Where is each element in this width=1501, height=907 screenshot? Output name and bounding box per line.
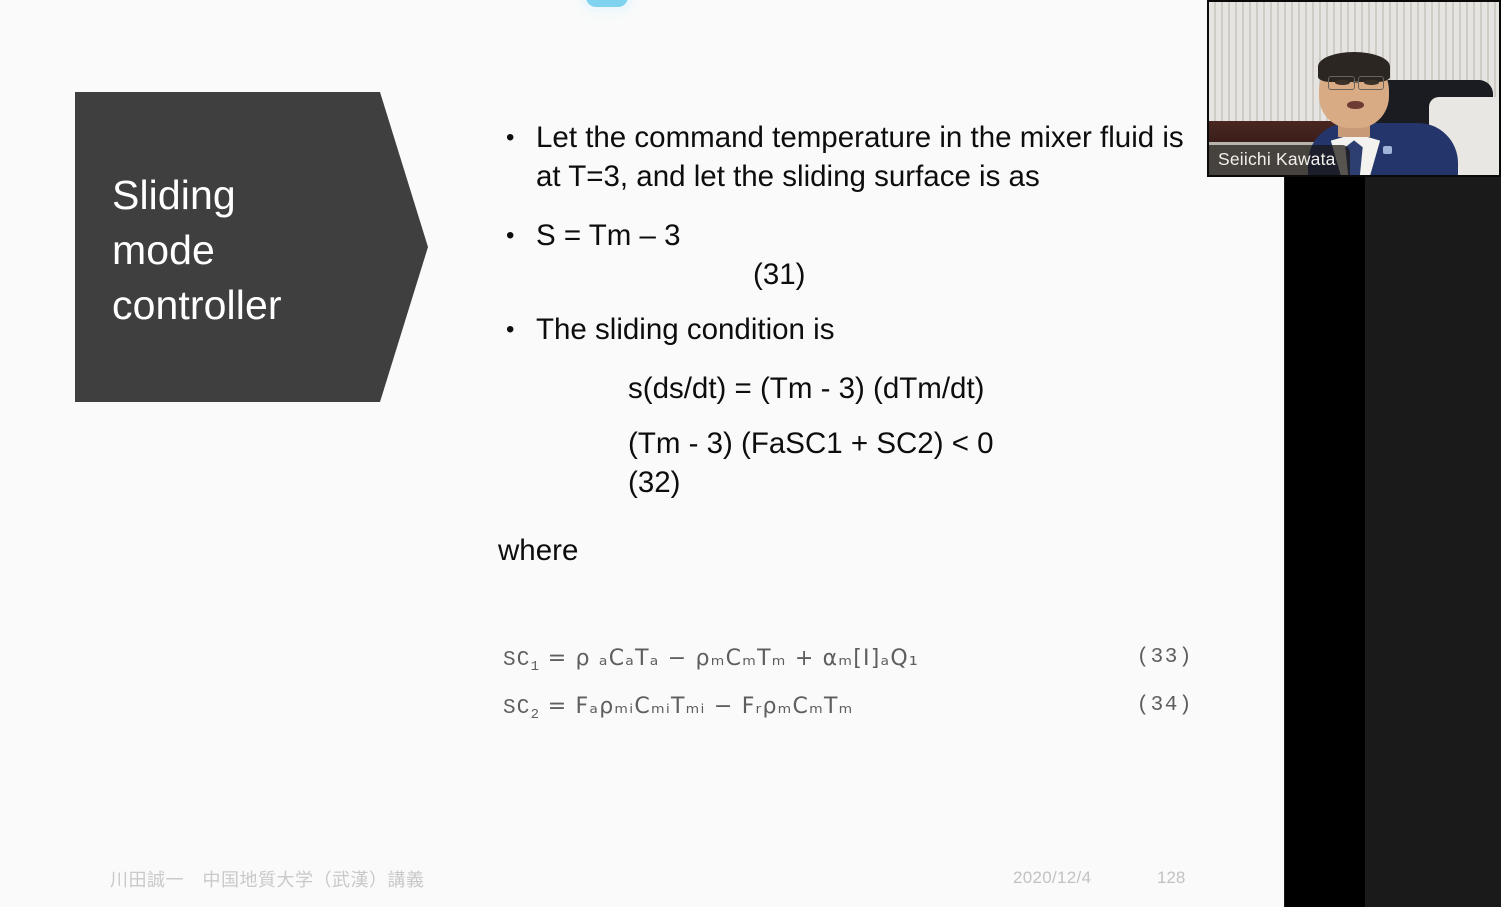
spacer xyxy=(498,294,1198,310)
where-label: where xyxy=(498,531,1198,570)
slide-body: • Let the command temperature in the mix… xyxy=(498,118,1198,570)
equation-number-32: (32) xyxy=(498,463,1198,502)
slide-footer-lecture-label: 川田誠一 中国地質大学（武漢）講義 xyxy=(110,866,425,892)
slide-footer-page-number: 128 xyxy=(1157,868,1185,888)
spacer xyxy=(498,408,1198,424)
bullet-text: The sliding condition is xyxy=(536,313,834,346)
speaker-video-thumbnail[interactable]: Seiichi Kawata xyxy=(1207,0,1501,177)
bullet-item: • Let the command temperature in the mix… xyxy=(498,118,1198,196)
scanned-equation-33-number: (33) xyxy=(1137,646,1193,669)
eyeglasses-bridge-icon xyxy=(1353,81,1358,82)
bullet-text: Let the command temperature in the mixer… xyxy=(536,121,1184,193)
slide-title: Sliding mode controller xyxy=(112,168,362,333)
spacer xyxy=(498,502,1198,531)
scanned-equation-34: SC2 = FₐρₘᵢCₘᵢTₘᵢ − FᵣρₘCₘTₘ (34) xyxy=(503,694,1193,742)
meeting-toolbar-handle-icon[interactable] xyxy=(586,0,628,7)
equation-number-31: (31) xyxy=(498,255,1198,294)
scanned-equation-33: SC1 = ρ ₐCₐTₐ − ρₘCₘTₘ + αₘ[I]ₐQ₁ (33) xyxy=(503,646,1193,694)
spacer xyxy=(498,349,1198,369)
zoom-screen-share-stage: Sliding mode controller • Let the comman… xyxy=(0,0,1501,907)
scanned-equation-34-number: (34) xyxy=(1137,694,1193,717)
bullet-text: S = Tm – 3 xyxy=(536,219,681,252)
slide-footer-date: 2020/12/4 xyxy=(1013,868,1091,888)
bullet-item: • S = Tm – 3 xyxy=(498,216,1198,255)
bullet-marker: • xyxy=(506,216,514,255)
scanned-equations-block: SC1 = ρ ₐCₐTₐ − ρₘCₘTₘ + αₘ[I]ₐQ₁ (33) S… xyxy=(503,646,1193,742)
presentation-slide: Sliding mode controller • Let the comman… xyxy=(0,0,1284,907)
equation-line-inequality: (Tm - 3) (FaSC1 + SC2) < 0 xyxy=(498,424,1198,463)
spacer xyxy=(498,196,1198,216)
bullet-item: • The sliding condition is xyxy=(498,310,1198,349)
equation-line-sliding-condition: s(ds/dt) = (Tm - 3) (dTm/dt) xyxy=(498,369,1198,408)
scanned-equation-33-body: SC1 = ρ ₐCₐTₐ − ρₘCₘTₘ + αₘ[I]ₐQ₁ xyxy=(503,646,919,675)
speaker-name-label: Seiichi Kawata xyxy=(1209,145,1350,175)
lapel-pin-icon xyxy=(1383,146,1392,155)
bullet-marker: • xyxy=(506,310,514,349)
bullet-marker: • xyxy=(506,118,514,157)
scanned-equation-34-body: SC2 = FₐρₘᵢCₘᵢTₘᵢ − FᵣρₘCₘTₘ xyxy=(503,694,854,723)
